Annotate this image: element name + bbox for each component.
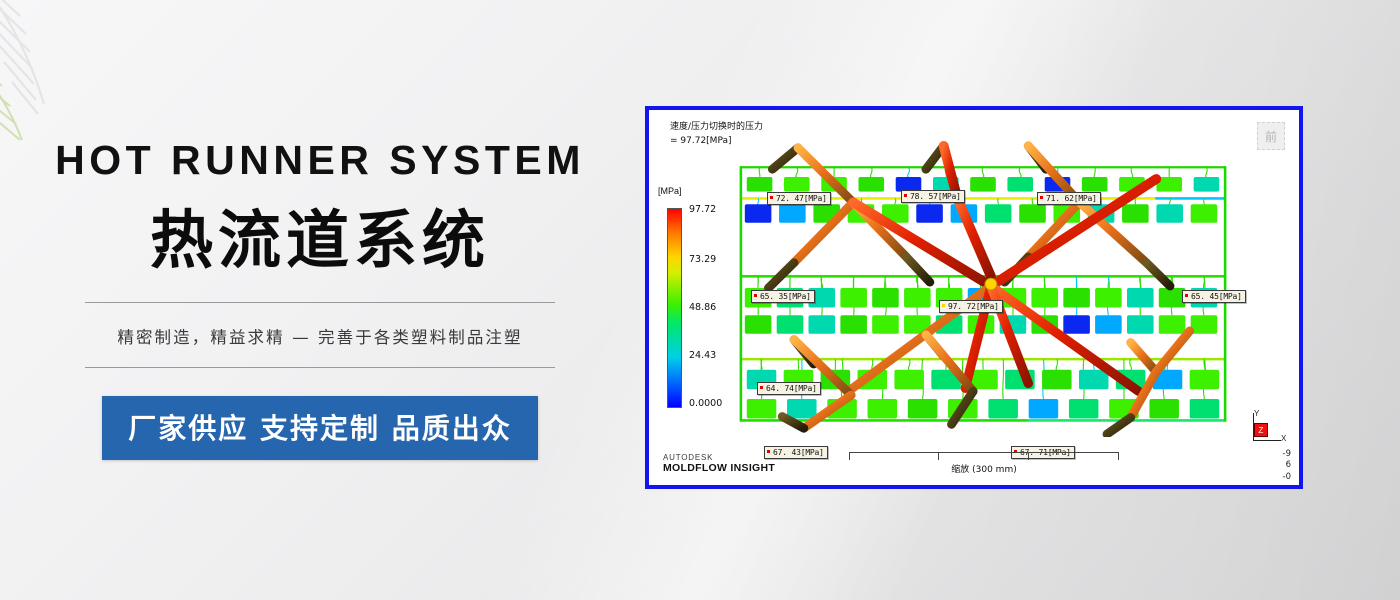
cavity-cell bbox=[1019, 204, 1046, 223]
divider-top bbox=[85, 302, 555, 303]
cavity-cell bbox=[1159, 315, 1186, 334]
divider-bottom bbox=[85, 367, 555, 368]
coord-0: -9 bbox=[1283, 449, 1291, 460]
pressure-callout[interactable]: 72. 47[MPa] bbox=[767, 192, 831, 205]
cavity-cell bbox=[747, 177, 773, 192]
cavity-cell bbox=[1042, 370, 1072, 389]
cavity-cell bbox=[840, 288, 867, 307]
runner-drop bbox=[908, 359, 910, 370]
runner-drop bbox=[1032, 198, 1033, 204]
autodesk-branding: AUTODESK MOLDFLOW INSIGHT bbox=[663, 453, 775, 474]
coord-2: -0 bbox=[1283, 472, 1291, 483]
runner-drop bbox=[1131, 167, 1133, 177]
page-title-chinese: 热流道系统 bbox=[150, 207, 490, 275]
runner-drop bbox=[908, 167, 910, 177]
view-cube-front-icon[interactable]: 前 bbox=[1257, 122, 1285, 150]
cavity-cell bbox=[1079, 370, 1109, 389]
scale-label: 缩放 (300 mm) bbox=[849, 462, 1119, 475]
pressure-callout[interactable]: 65. 45[MPa] bbox=[1182, 290, 1246, 303]
axis-triad-icon: Z Y X bbox=[1245, 411, 1289, 451]
legend-color-bar bbox=[667, 208, 682, 408]
cavity-cell bbox=[1007, 177, 1033, 192]
cavity-cell bbox=[872, 288, 899, 307]
runner-drop bbox=[1204, 198, 1205, 204]
cavity-cell bbox=[1191, 204, 1218, 223]
cavity-cell bbox=[784, 177, 810, 192]
pressure-callout[interactable]: 65. 35[MPa] bbox=[751, 290, 815, 303]
pressure-callout[interactable]: 64. 74[MPa] bbox=[757, 382, 821, 395]
brand-autodesk: AUTODESK bbox=[663, 453, 775, 462]
runner-drop bbox=[1056, 359, 1057, 370]
cavity-cell bbox=[1095, 315, 1122, 334]
cavity-cell bbox=[1194, 177, 1220, 192]
color-legend: [MPa] 97.72 73.29 48.86 24.43 0.0000 bbox=[657, 186, 733, 412]
cavity-cell bbox=[777, 315, 804, 334]
legend-tick-0: 97.72 bbox=[689, 204, 716, 215]
cavity-cell bbox=[1127, 288, 1154, 307]
runner-drop bbox=[1003, 359, 1004, 399]
runner-drop bbox=[1206, 167, 1208, 177]
axis-x-label: X bbox=[1281, 434, 1286, 443]
cavity-cell bbox=[1082, 177, 1108, 192]
runner-drop bbox=[796, 167, 798, 177]
cavity-cell bbox=[747, 399, 777, 418]
cavity-cell bbox=[894, 370, 924, 389]
cavity-cell bbox=[1156, 204, 1183, 223]
cavity-cell bbox=[779, 204, 806, 223]
scale-bar: 缩放 (300 mm) bbox=[849, 452, 1119, 475]
legend-ticks: 97.72 73.29 48.86 24.43 0.0000 bbox=[689, 202, 733, 414]
cavity-cell bbox=[1069, 399, 1099, 418]
legend-tick-3: 24.43 bbox=[689, 350, 716, 361]
cavity-cell bbox=[787, 399, 817, 418]
cavity-cell bbox=[988, 399, 1018, 418]
page-title-english: HOT RUNNER SYSTEM bbox=[55, 140, 585, 181]
hero-subtitle: 精密制造，精益求精 — 完善于各类塑料制品注塑 bbox=[117, 324, 522, 348]
runner-drop bbox=[759, 167, 760, 177]
scale-ruler bbox=[849, 452, 1119, 461]
cavity-cell bbox=[916, 204, 943, 223]
cavity-cell bbox=[1031, 288, 1058, 307]
cavity-cell bbox=[745, 204, 772, 223]
pressure-callout[interactable]: 78. 57[MPa] bbox=[901, 190, 965, 203]
cavity-cell bbox=[745, 315, 772, 334]
cavity-cell bbox=[1127, 315, 1154, 334]
cavity-cell bbox=[858, 177, 884, 192]
cavity-cell bbox=[1190, 370, 1220, 389]
runner-drop bbox=[1130, 359, 1132, 370]
cavity-cell bbox=[1122, 204, 1149, 223]
runner-drop bbox=[870, 167, 872, 177]
cavity-cell bbox=[1063, 315, 1090, 334]
cavity-cell bbox=[1149, 399, 1179, 418]
legend-tick-2: 48.86 bbox=[689, 302, 716, 313]
coord-1: 6 bbox=[1283, 460, 1291, 471]
cavity-cell bbox=[1190, 399, 1220, 418]
cavity-cell bbox=[1029, 399, 1059, 418]
cavity-cell bbox=[970, 177, 996, 192]
axis-z-label: Z bbox=[1254, 423, 1268, 437]
cta-banner[interactable]: 厂家供应 支持定制 品质出众 bbox=[102, 396, 538, 460]
runner-drop bbox=[1019, 167, 1021, 177]
coordinate-readout: -9 6 -0 bbox=[1283, 449, 1291, 483]
runner-drop bbox=[1094, 167, 1095, 177]
cavity-cell bbox=[840, 315, 867, 334]
cavity-cell bbox=[872, 315, 899, 334]
hero-text-block: HOT RUNNER SYSTEM 热流道系统 精密制造，精益求精 — 完善于各… bbox=[0, 0, 640, 600]
legend-tick-1: 73.29 bbox=[689, 254, 716, 265]
pressure-callout[interactable]: 71. 62[MPa] bbox=[1037, 192, 1101, 205]
legend-tick-4: 0.0000 bbox=[689, 398, 722, 409]
moldflow-result-panel: 速度/压力切换时的压力 = 97.72[MPa] 前 [MPa] 97.72 7… bbox=[645, 106, 1303, 489]
cavity-cell bbox=[868, 399, 898, 418]
cavity-cell bbox=[908, 399, 938, 418]
cavity-cell bbox=[904, 288, 931, 307]
injection-node bbox=[985, 278, 997, 290]
cavity-cell bbox=[808, 315, 835, 334]
moldflow-canvas: 速度/压力切换时的压力 = 97.72[MPa] 前 [MPa] 97.72 7… bbox=[649, 110, 1299, 485]
cavity-cell bbox=[985, 204, 1012, 223]
legend-unit-label: [MPa] bbox=[658, 186, 733, 196]
cavity-cell bbox=[1191, 315, 1218, 334]
runner-drop bbox=[982, 167, 984, 177]
result-title-line1: 速度/压力切换时的压力 bbox=[670, 121, 763, 135]
cavity-cell bbox=[1063, 288, 1090, 307]
cavity-cell bbox=[1095, 288, 1122, 307]
pressure-callout-max[interactable]: 97. 72[MPa] bbox=[939, 300, 1003, 313]
brand-moldflow-insight: MOLDFLOW INSIGHT bbox=[663, 462, 775, 474]
axis-y-label: Y bbox=[1254, 409, 1259, 418]
